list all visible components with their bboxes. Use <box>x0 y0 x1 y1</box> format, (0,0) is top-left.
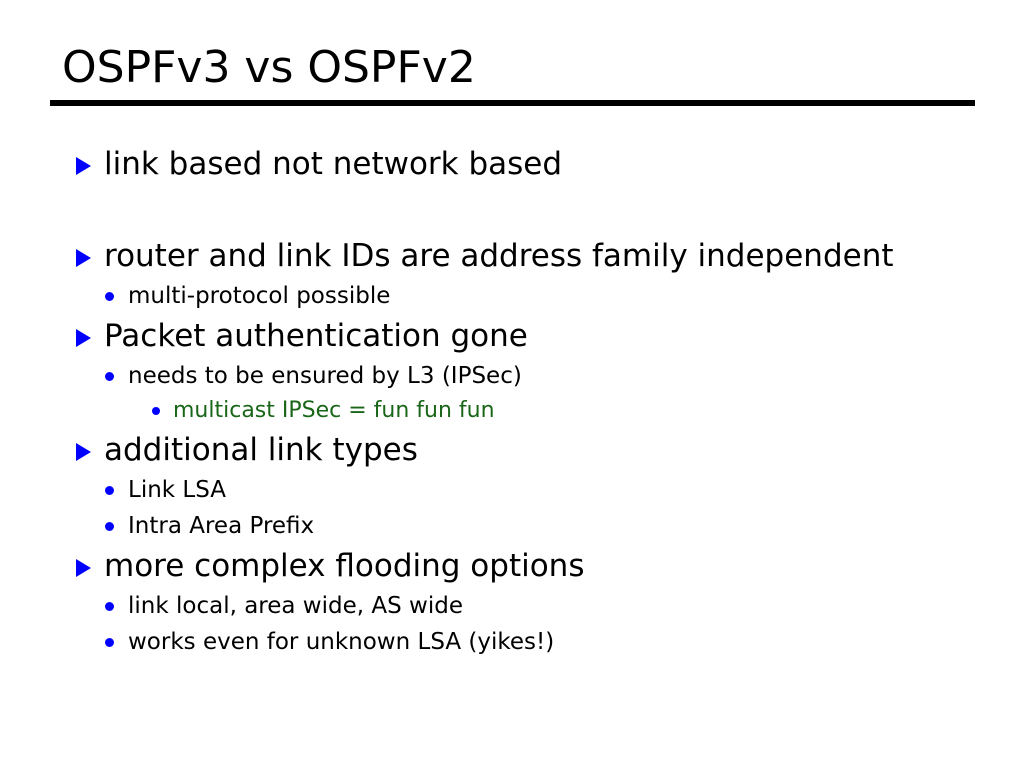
triangle-bullet-icon <box>76 249 91 267</box>
bullet-text: Packet authentication gone <box>104 318 528 354</box>
bullet-text: Intra Area Prefix <box>128 513 314 539</box>
presentation-slide: OSPFv3 vs OSPFv2 link based not network … <box>0 0 1024 768</box>
dot-bullet-icon <box>105 486 114 495</box>
bullet-text: additional link types <box>104 432 418 468</box>
dot-bullet-icon <box>105 638 114 647</box>
triangle-bullet-icon <box>76 329 91 347</box>
title-block: OSPFv3 vs OSPFv2 <box>50 44 975 92</box>
bullet-text: more complex flooding options <box>104 548 585 584</box>
bullet-text: router and link IDs are address family i… <box>104 238 894 274</box>
triangle-bullet-icon <box>76 443 91 461</box>
dot-bullet-icon <box>105 372 114 381</box>
bullet-text: link based not network based <box>104 146 562 182</box>
dot-bullet-icon <box>105 292 114 301</box>
bullet-text: needs to be ensured by L3 (IPSec) <box>128 363 522 389</box>
bullet-item-level2: multi-protocol possible <box>0 278 1024 314</box>
bullet-item-level2: Link LSA <box>0 472 1024 508</box>
bullet-list: link based not network based router and … <box>0 142 1024 660</box>
bullet-item-level1: more complex flooding options <box>0 544 1024 588</box>
bullet-item-level2: Intra Area Prefix <box>0 508 1024 544</box>
triangle-bullet-icon <box>76 157 91 175</box>
bullet-spacer <box>0 186 1024 234</box>
bullet-item-level2: link local, area wide, AS wide <box>0 588 1024 624</box>
bullet-item-level2: needs to be ensured by L3 (IPSec) <box>0 358 1024 394</box>
bullet-item-level1: Packet authentication gone <box>0 314 1024 358</box>
dot-bullet-icon <box>105 602 114 611</box>
dot-bullet-icon <box>152 407 160 415</box>
bullet-item-level3-highlight: multicast IPSec = fun fun fun <box>0 394 1024 428</box>
bullet-item-level2: works even for unknown LSA (yikes!) <box>0 624 1024 660</box>
bullet-text: multi-protocol possible <box>128 283 390 309</box>
bullet-item-level1: link based not network based <box>0 142 1024 186</box>
bullet-item-level1: additional link types <box>0 428 1024 472</box>
bullet-text: works even for unknown LSA (yikes!) <box>128 629 554 655</box>
bullet-text-green: multicast IPSec = fun fun fun <box>173 398 495 423</box>
bullet-item-level1: router and link IDs are address family i… <box>0 234 1024 278</box>
page-title: OSPFv3 vs OSPFv2 <box>50 44 975 92</box>
dot-bullet-icon <box>105 522 114 531</box>
title-underline-rule <box>50 100 975 106</box>
triangle-bullet-icon <box>76 559 91 577</box>
bullet-text: Link LSA <box>128 477 226 503</box>
bullet-text: link local, area wide, AS wide <box>128 593 463 619</box>
